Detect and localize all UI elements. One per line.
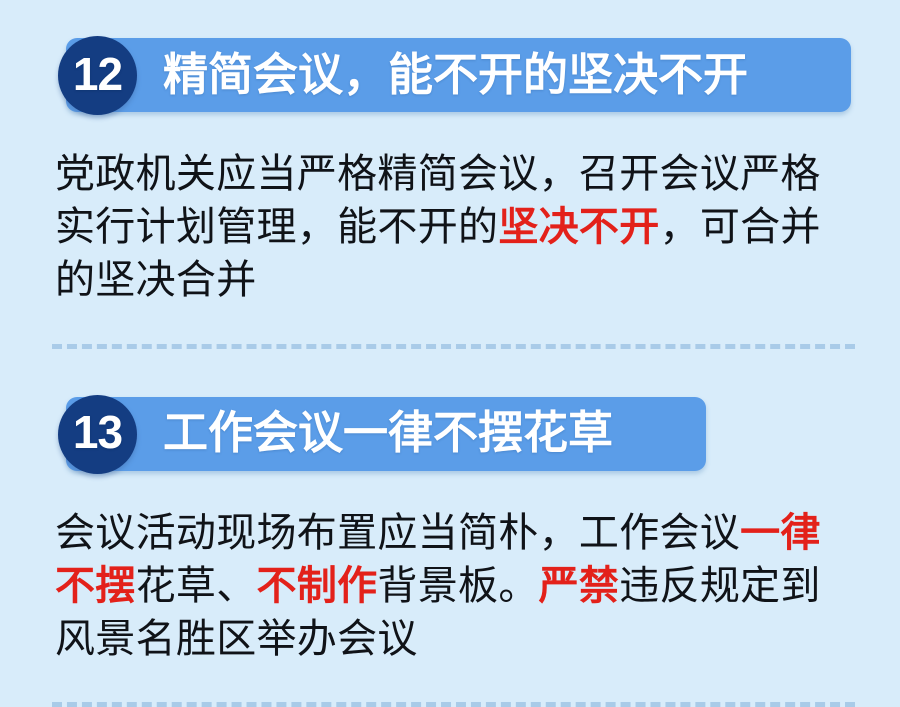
section-12-header-bar: 精简会议，能不开的坚决不开 (66, 38, 851, 112)
divider-spacer-top (0, 308, 900, 344)
body-run-highlight: 严禁 (539, 564, 620, 608)
section-13-gap (0, 485, 900, 507)
section-13-number: 13 (73, 409, 122, 455)
body-run-highlight: 坚决不开 (498, 205, 659, 249)
body-run: 会议活动现场布置应当简朴，工作会议 (55, 511, 740, 555)
body-run-highlight: 不制作 (257, 564, 378, 608)
section-12-header-row: 精简会议，能不开的坚决不开 12 (58, 36, 900, 126)
top-spacer (0, 0, 900, 36)
section-12-body: 党政机关应当严格精简会议，召开会议严格实行计划管理，能不开的坚决不开，可合并的坚… (0, 148, 900, 308)
section-12-title: 精简会议，能不开的坚决不开 (163, 52, 748, 97)
section-divider-2 (52, 702, 855, 707)
section-13: 工作会议一律不摆花草 13 会议活动现场布置应当简朴，工作会议一律不摆花草、不制… (0, 395, 900, 667)
section-12-gap (0, 126, 900, 148)
section-12-number: 12 (73, 51, 122, 97)
section-12: 精简会议，能不开的坚决不开 12 党政机关应当严格精简会议，召开会议严格实行计划… (0, 36, 900, 308)
infographic-page: 精简会议，能不开的坚决不开 12 党政机关应当严格精简会议，召开会议严格实行计划… (0, 0, 900, 701)
body-run: 背景板。 (377, 564, 538, 608)
section-13-number-badge: 13 (58, 395, 137, 474)
divider-spacer-top-2 (0, 666, 900, 702)
divider-spacer-bottom (0, 349, 900, 395)
section-12-number-badge: 12 (58, 36, 137, 115)
section-13-header-row: 工作会议一律不摆花草 13 (58, 395, 900, 485)
section-13-title: 工作会议一律不摆花草 (163, 410, 613, 455)
section-13-header-bar: 工作会议一律不摆花草 (66, 397, 706, 471)
body-run: 花草、 (136, 564, 257, 608)
section-13-body: 会议活动现场布置应当简朴，工作会议一律不摆花草、不制作背景板。严禁违反规定到风景… (0, 507, 900, 667)
